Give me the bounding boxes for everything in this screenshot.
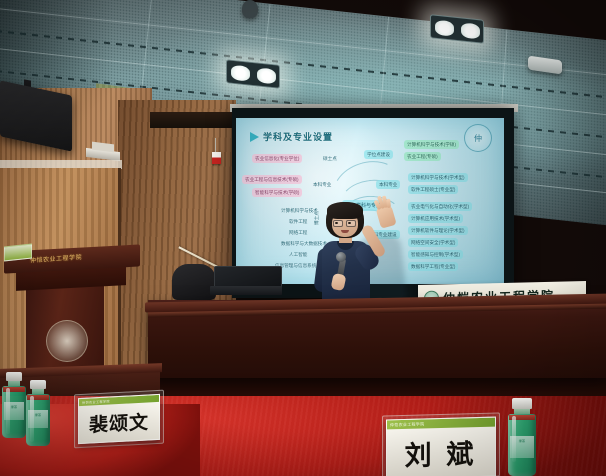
slide-title-row: 学科及专业设置 <box>250 130 333 143</box>
slide-node-right-8: 数据科学工程(专业型) <box>408 262 458 271</box>
bottle-label: 绿茶 <box>510 436 534 458</box>
logo-glyph: 仲 <box>474 133 482 144</box>
slide-branch-node-mid: 本科专业 <box>376 180 400 189</box>
slide-title: 学科及专业设置 <box>263 130 333 143</box>
slide-node-branch-2: 本科专业 <box>310 180 334 189</box>
slide-node-right-4: 计算机应用技术(学术型) <box>408 214 463 223</box>
slide-node-left-1: 农业信息化(专业学位) <box>252 154 302 163</box>
triangle-bullet-icon <box>250 132 259 142</box>
name-card-right: 仲恺农业工程学院 刘 斌 <box>386 417 496 476</box>
bottle-body: 绿茶 <box>508 414 536 476</box>
water-bottle-2[interactable]: 绿茶 <box>26 380 50 446</box>
podium-emblem-icon <box>46 320 88 362</box>
podium-name-tag <box>4 244 32 262</box>
slide-node-left-8: 人工智能 <box>286 250 310 259</box>
bottle-body: 绿茶 <box>2 386 26 438</box>
slide-node-rtop-1: 计算机科学与技术(学硕) <box>404 140 459 149</box>
name-card-name-right: 刘 斌 <box>387 427 495 476</box>
slide-node-rtop-2: 农业工程(专硕) <box>404 152 441 161</box>
bottle-body: 绿茶 <box>26 394 50 446</box>
bottle-label-text: 绿茶 <box>4 402 24 410</box>
presenter-right-hand <box>375 203 396 229</box>
bottle-label-text: 绿茶 <box>28 410 48 418</box>
wall-notice-icon <box>212 152 221 164</box>
name-card-strip-text: 仲恺农业工程学院 <box>390 421 424 428</box>
university-logo-icon: 仲 <box>464 124 492 152</box>
sign-cord <box>215 138 216 153</box>
presenter-fringe <box>327 202 363 219</box>
slide-node-branch-1: 硕士点 <box>320 154 340 163</box>
bottle-label-text: 绿茶 <box>510 436 534 444</box>
presenter-eye <box>335 222 338 224</box>
finger <box>386 199 390 208</box>
slide-node-right-2: 软件工程硕士(专业型) <box>408 185 458 194</box>
presenter-eye <box>348 222 351 224</box>
water-bottle-1[interactable]: 绿茶 <box>2 372 26 438</box>
slide-node-right-7: 智能感知与控制(学术型) <box>408 250 463 259</box>
slide-node-right-3: 农业电气化与自动化(学术型) <box>408 202 472 211</box>
slide-side-label-top: 学位点建设 <box>364 150 393 159</box>
ceiling-sensor-icon <box>242 0 258 18</box>
name-card-left: 仲恺农业工程学院 裴颂文 <box>78 394 160 444</box>
bottle-cap <box>512 398 532 409</box>
presenter <box>308 196 404 304</box>
slide-node-right-5: 计算机软件与理论(学术型) <box>408 226 468 235</box>
microphone-head-icon <box>336 252 346 262</box>
slide-node-right-6: 网络空间安全(学术型) <box>408 238 458 247</box>
bottle-label: 绿茶 <box>28 410 48 428</box>
slide-node-right-1: 计算机科学与技术(学术型) <box>408 173 468 182</box>
bottle-label: 绿茶 <box>4 402 24 420</box>
lecture-hall-photo: 学科及专业设置 仲 农业信息化(专业学位) 硕士点 农业工程与信息技术(专硕) … <box>0 0 606 476</box>
name-card-name-left: 裴颂文 <box>79 402 159 443</box>
slide-node-left-5: 软件工程 <box>286 217 310 226</box>
slide-node-left-6: 网络工程 <box>286 228 310 237</box>
slide-node-left-3: 智能科学与技术(学硕) <box>252 188 302 197</box>
water-bottle-3[interactable]: 绿茶 <box>508 398 536 476</box>
slide-node-left-2: 农业工程与信息技术(专硕) <box>242 175 302 184</box>
bottle-cap <box>6 372 22 381</box>
bottle-cap <box>30 380 46 389</box>
laptop-keyboard[interactable] <box>210 286 282 295</box>
